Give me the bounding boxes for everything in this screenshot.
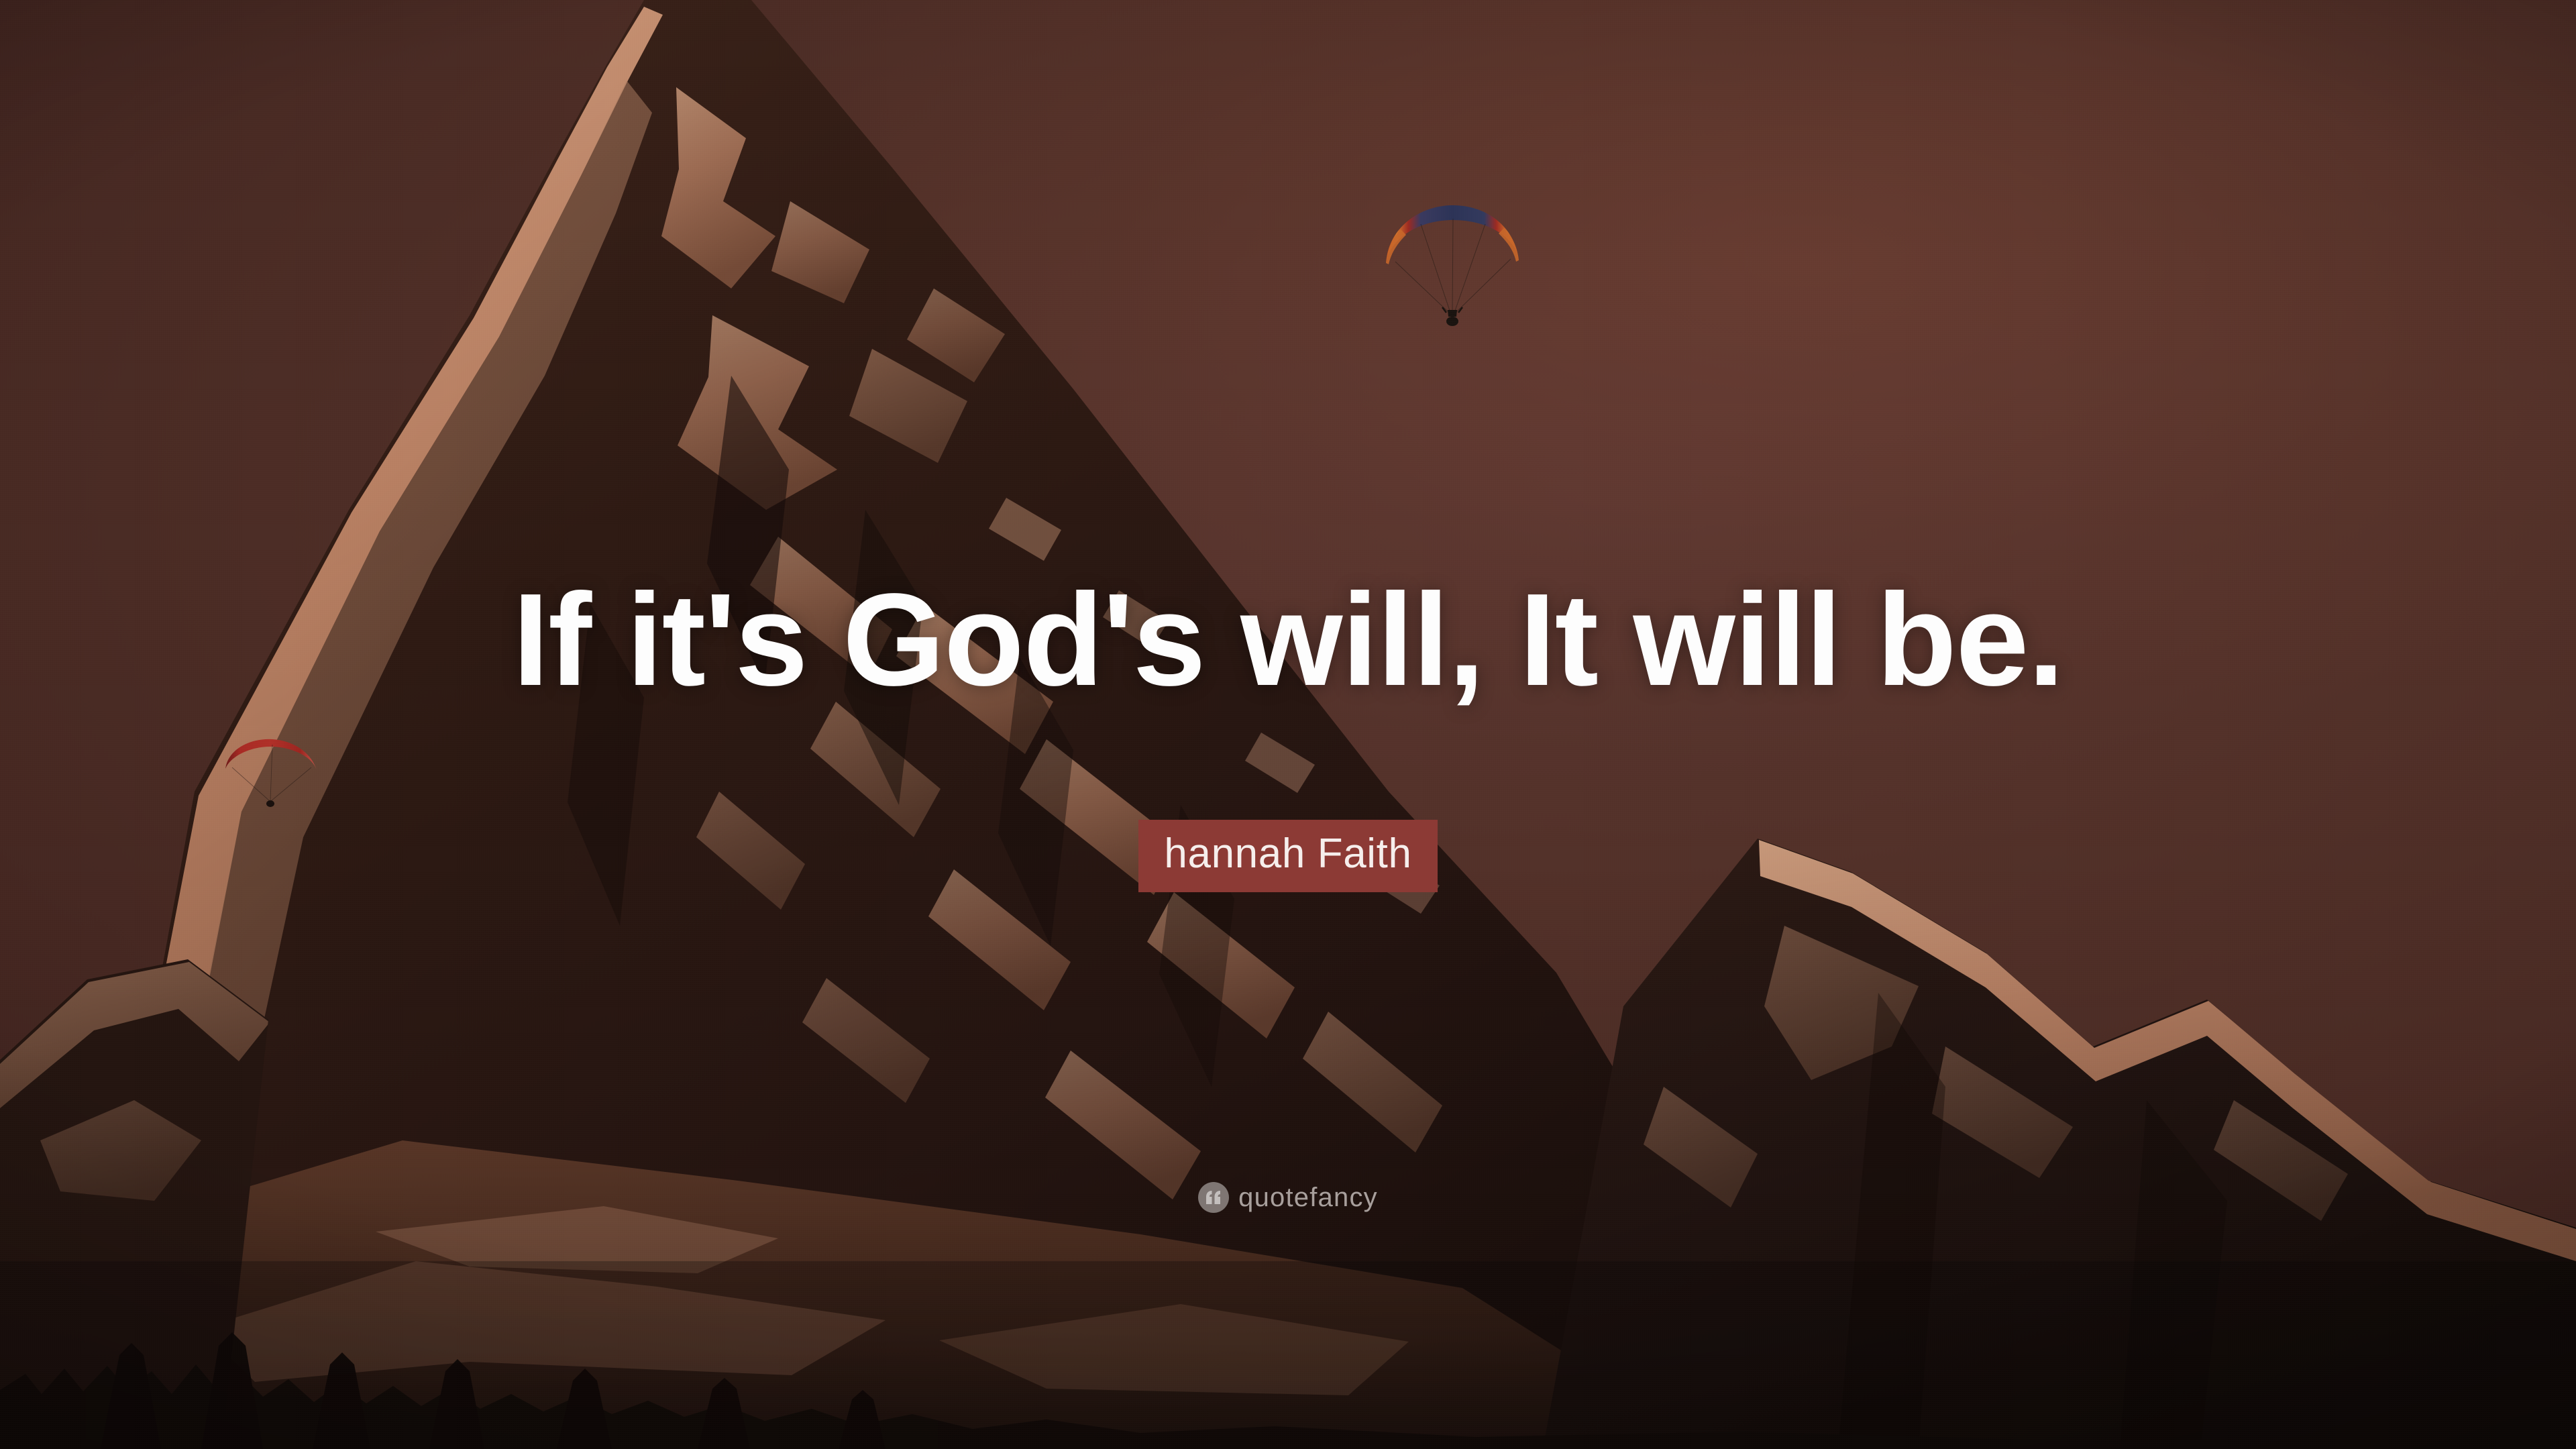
quotefancy-watermark[interactable]: quotefancy (0, 1182, 2576, 1213)
author-name: hannah Faith (1138, 820, 1437, 892)
quote-text: If it's God's will, It will be. (0, 574, 2576, 706)
double-quote-icon (1198, 1182, 1229, 1213)
quote-wallpaper: If it's God's will, It will be. hannah F… (0, 0, 2576, 1449)
vignette-overlay (0, 0, 2576, 1449)
attribution-row: hannah Faith (0, 820, 2576, 892)
quotefancy-brand: quotefancy (1238, 1184, 1378, 1211)
